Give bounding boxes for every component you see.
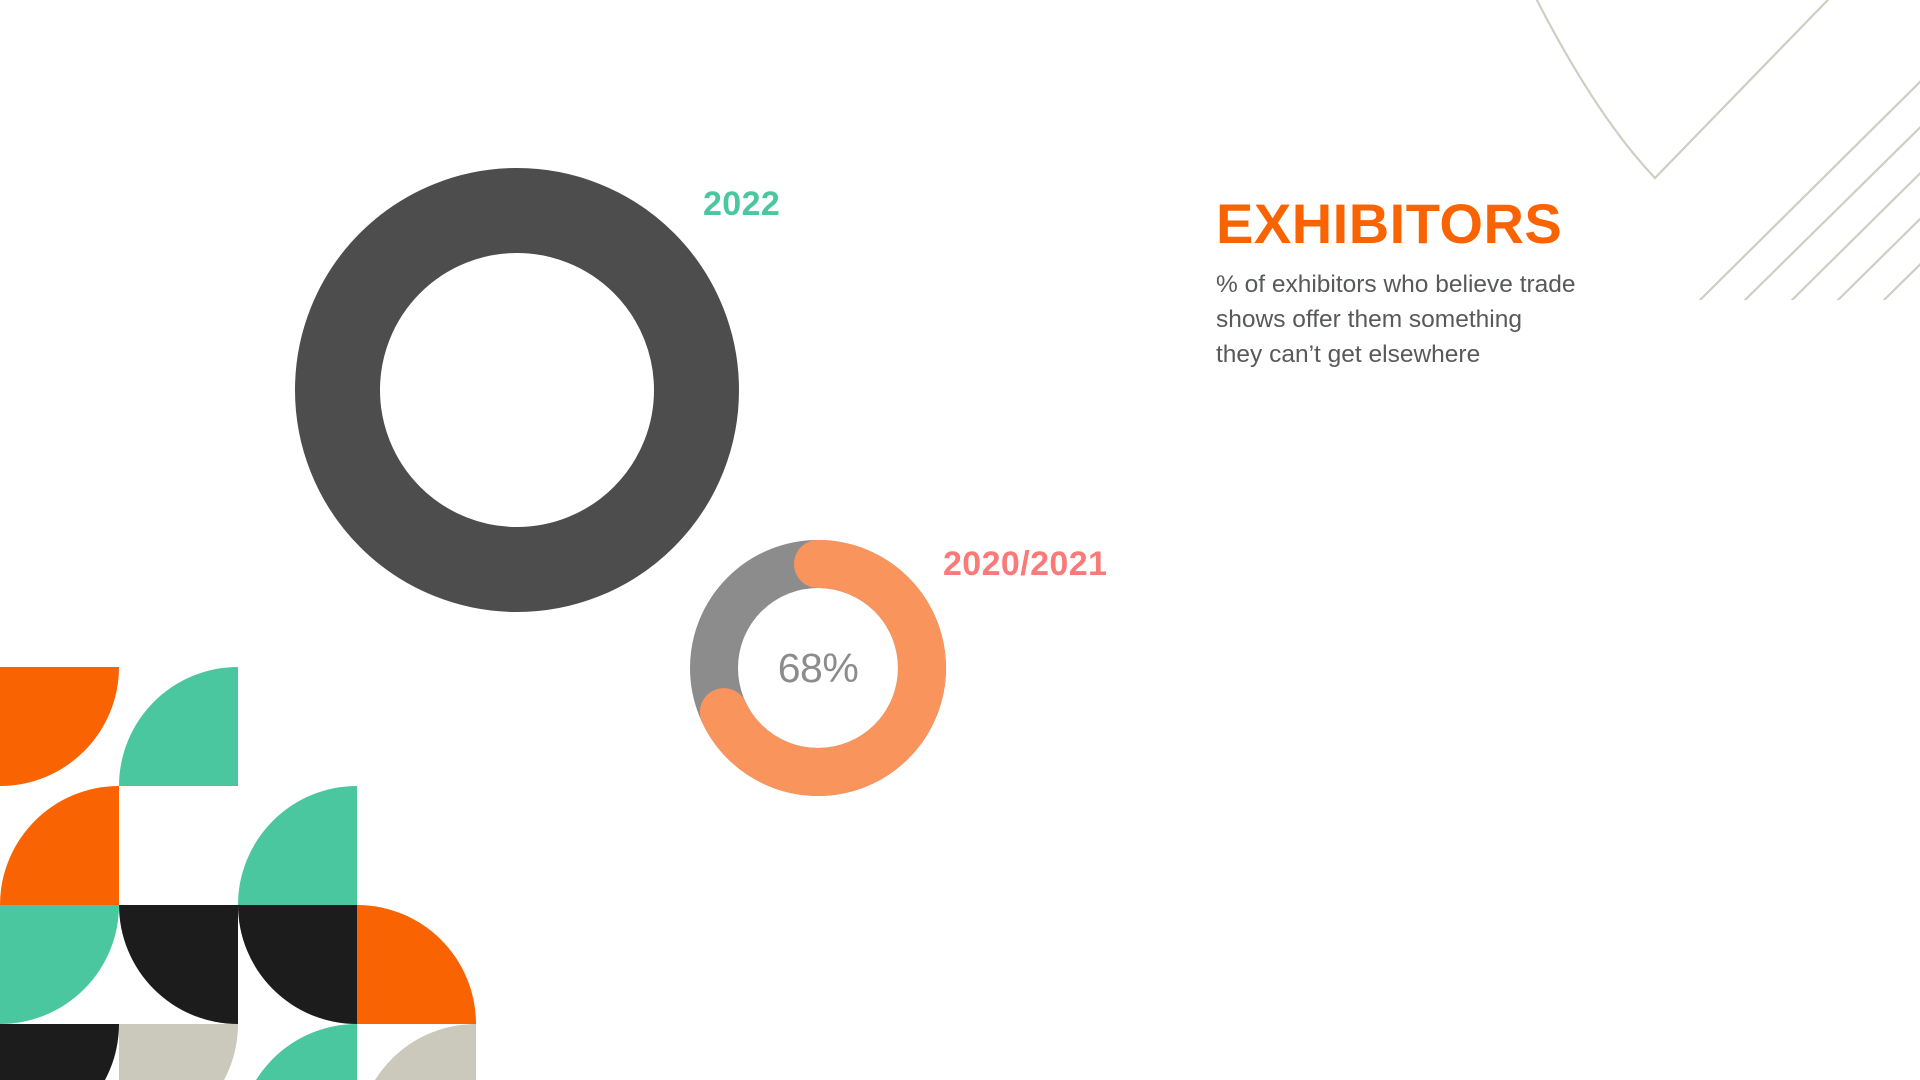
quarter-circle-tile-grid-icon xyxy=(0,667,600,1080)
donut-chart-2022 xyxy=(295,168,739,612)
slide-canvas: 2022 68% 2020/2021 EXHIBITORS % of exhib… xyxy=(0,0,1920,1080)
page-title: EXHIBITORS xyxy=(1216,196,1736,252)
headline-description-line: they can’t get elsewhere xyxy=(1216,338,1706,373)
headline-description-line: % of exhibitors who believe trade xyxy=(1216,268,1706,303)
chart-label-2022: 2022 xyxy=(703,185,780,224)
chart-label-2020-2021: 2020/2021 xyxy=(943,545,1107,584)
donut-center-value-2020-2021: 68% xyxy=(690,540,946,796)
headline-description: % of exhibitors who believe trade shows … xyxy=(1216,268,1706,372)
donut-chart-2020-2021: 68% xyxy=(690,540,946,796)
headline-description-line: shows offer them something xyxy=(1216,303,1706,338)
headline-block: EXHIBITORS % of exhibitors who believe t… xyxy=(1216,196,1736,372)
